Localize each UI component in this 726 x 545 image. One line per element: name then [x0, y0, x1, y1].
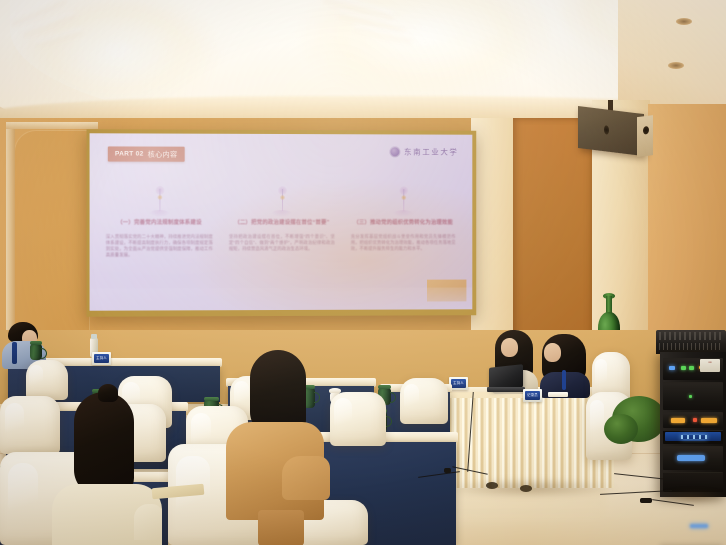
university-name: 东南工业大学: [404, 146, 458, 157]
rack-unit-base: [663, 472, 723, 492]
display-amber: [701, 418, 717, 423]
recessed-downlight: [668, 62, 684, 69]
bottle-cap: [91, 334, 97, 339]
name-placard: 记录员: [523, 389, 542, 402]
placard-text: 记录员: [525, 391, 540, 400]
slide-column-heading: （三）推动党的组织优势转化为治理效能: [351, 220, 456, 227]
node-icon: [157, 195, 162, 200]
mug-lid: [204, 397, 219, 401]
hair-bun: [98, 384, 118, 402]
status-led-green: [681, 366, 686, 370]
cable-connector: [640, 498, 652, 503]
slide-section-title: 核心内容: [148, 149, 178, 159]
slide-column: （二）把党的政治建设摆在首位“首要” 坚持把政治建设摆在首位，不断增强“四个意识…: [229, 186, 335, 259]
person-head-table-right: [540, 334, 590, 392]
status-led-green: [689, 395, 692, 398]
slide-column-body: 深入贯彻落实党的二十大精神，持续推进党内法规制度体系建设，不断提高制度执行力，确…: [106, 234, 213, 259]
recessed-downlight: [676, 18, 692, 25]
mixer-faders[interactable]: [659, 343, 723, 350]
head-table-shadow: [440, 478, 620, 498]
status-led-green: [689, 366, 694, 370]
wall-panel-left: [14, 130, 90, 345]
slide-column-body: 坚持把政治建设摆在首位，不断增强“四个意识”、坚定“四个自信”、做到“两个维护”…: [229, 233, 335, 252]
wall-trim-horizontal: [6, 122, 98, 129]
audio-mixing-console[interactable]: [656, 330, 726, 354]
rack-blue-display[interactable]: [665, 432, 721, 441]
mug-lid: [378, 385, 391, 389]
face: [501, 338, 518, 357]
slide-bottom-band: [90, 287, 473, 310]
person-front-left: [52, 392, 162, 545]
slide-column: （三）推动党的组织优势转化为治理效能 充分发挥基层党组织战斗堡垒作用和党员先锋模…: [351, 186, 456, 258]
slide-column-heading: （二）把党的政治建设摆在首位“首要”: [229, 220, 335, 228]
blue-led-bar: [677, 455, 705, 461]
base-glow-icon: [271, 210, 293, 217]
slide-column-heading: （一）完善党内法规制度体系建设: [106, 220, 213, 228]
slide-column-icon: [229, 186, 335, 220]
projection-screen[interactable]: PART 02 核心内容 东南工业大学 （一）完善党内法规制度体系建设 深入贯彻…: [90, 133, 473, 310]
placard-text: 主持人: [94, 354, 109, 363]
university-logo: 东南工业大学: [389, 146, 458, 157]
slide-column-icon: [351, 186, 456, 220]
hair: [74, 392, 134, 496]
lanyard: [12, 342, 17, 364]
arm: [134, 504, 162, 540]
mixer-knobs[interactable]: [659, 332, 723, 340]
blue-led-dots: [681, 435, 707, 439]
placard-insert: 主持人: [94, 354, 109, 363]
floor-led-reflection: [690, 524, 708, 528]
wall-alcove: [513, 118, 593, 354]
chair[interactable]: [330, 392, 386, 446]
rack-warning-label: ▪▪▪: [700, 359, 720, 372]
slide-part-label: PART 02: [115, 150, 144, 157]
slide-column-icon: [106, 186, 213, 220]
node-icon: [280, 195, 285, 200]
base-glow-icon: [148, 210, 170, 217]
display-amber: [671, 418, 685, 423]
rack-label-text: ▪▪▪: [700, 359, 720, 364]
rack-unit-processor[interactable]: [663, 382, 723, 410]
speaker-side-face: [637, 115, 653, 157]
rack-unit-sequencer[interactable]: [663, 412, 723, 428]
slide-columns: （一）完善党内法规制度体系建设 深入贯彻落实党的二十大精神，持续推进党内法规制度…: [106, 186, 458, 259]
person-front-center: [222, 350, 326, 545]
wall-speaker: [578, 106, 644, 156]
slide-column: （一）完善党内法规制度体系建设 深入贯彻落实党的二十大精神，持续推进党内法规制度…: [106, 186, 213, 259]
base-glow-icon: [392, 210, 414, 217]
lanyard: [562, 370, 566, 390]
status-led-red: [693, 418, 697, 422]
wall-trim-vertical: [6, 122, 15, 346]
chair[interactable]: [400, 378, 448, 424]
name-placard: 主持人: [92, 352, 111, 365]
paper-document: [548, 392, 568, 397]
lower-body: [258, 510, 304, 545]
cable-connector: [444, 468, 451, 473]
power-led: [669, 366, 675, 370]
slide-column-body: 充分发挥基层党组织战斗堡垒作用和党员先锋模范作用，把组织优势转化为治理效能，推动…: [351, 233, 456, 252]
arm: [282, 456, 330, 500]
rack-unit-amplifier[interactable]: ▪▪▪: [663, 358, 723, 380]
university-emblem-icon: [389, 146, 400, 157]
chair[interactable]: [0, 396, 60, 454]
mug-lid: [30, 341, 42, 345]
conference-hall-photo: PART 02 核心内容 东南工业大学 （一）完善党内法规制度体系建设 深入贯彻…: [0, 0, 726, 545]
potted-plant-leaf: [604, 414, 638, 444]
slide-section-banner: PART 02 核心内容: [108, 146, 185, 161]
av-equipment-rack[interactable]: ▪▪▪: [660, 352, 726, 497]
thermos-mug: [30, 344, 42, 360]
placard-text: 主持人: [451, 379, 466, 388]
face: [544, 343, 561, 362]
placard-insert: 记录员: [525, 391, 540, 400]
node-icon: [401, 195, 406, 200]
speaker-driver-icon: [604, 125, 609, 135]
placard-insert: 主持人: [451, 379, 466, 388]
laptop-keyboard[interactable]: [487, 387, 525, 392]
projection-screen-frame: PART 02 核心内容 东南工业大学 （一）完善党内法规制度体系建设 深入贯彻…: [87, 129, 477, 317]
rack-unit-lower[interactable]: [663, 446, 723, 470]
